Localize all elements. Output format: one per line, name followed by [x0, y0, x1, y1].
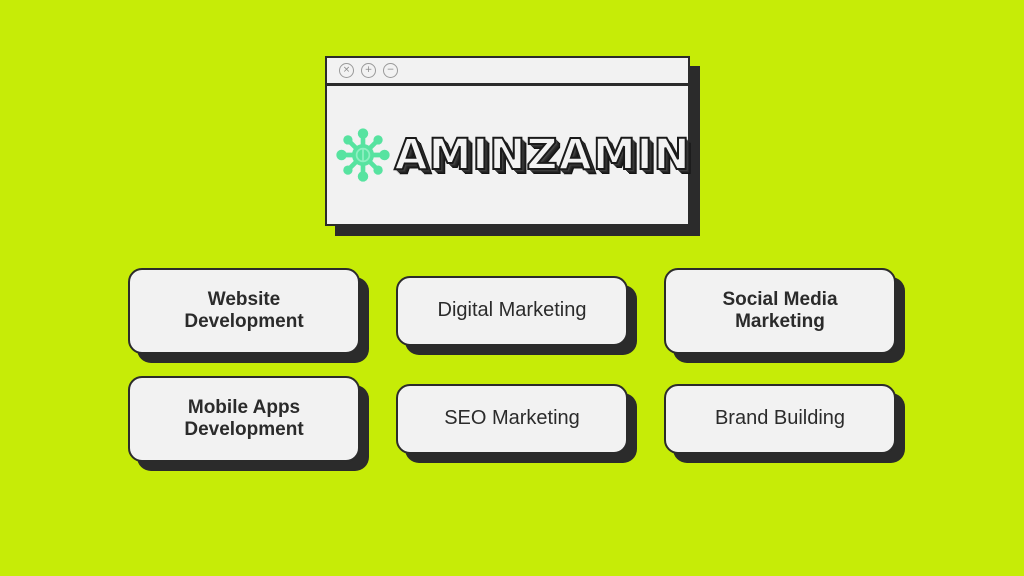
close-icon[interactable]: × [339, 63, 354, 78]
service-card-brand-building[interactable]: Brand Building [664, 376, 896, 454]
services-row-1: Website Development Digital Marketing So… [0, 268, 1024, 354]
card-surface[interactable]: Digital Marketing [396, 276, 628, 346]
service-card-social-media-marketing[interactable]: Social Media Marketing [664, 268, 896, 354]
browser-titlebar: × + − [327, 58, 688, 86]
card-surface[interactable]: SEO Marketing [396, 384, 628, 454]
services-row-2: Mobile Apps Development SEO Marketing Br… [0, 376, 1024, 462]
service-card-website-development[interactable]: Website Development [128, 268, 360, 354]
card-surface[interactable]: Website Development [128, 268, 360, 354]
card-label: Social Media Marketing [722, 289, 837, 334]
brand-logo-lockup: AMINZAMIN [334, 124, 690, 186]
card-label: SEO Marketing [444, 407, 580, 431]
card-label: Website Development [184, 289, 303, 334]
card-label: Brand Building [715, 407, 845, 431]
browser-content-area: AMINZAMIN [327, 86, 688, 224]
card-label: Digital Marketing [438, 299, 587, 323]
brand-wordmark: AMINZAMIN [394, 134, 690, 177]
card-label: Mobile Apps Development [184, 397, 303, 442]
service-card-mobile-apps-development[interactable]: Mobile Apps Development [128, 376, 360, 462]
services-grid: Website Development Digital Marketing So… [0, 268, 1024, 462]
aminzamin-molecule-icon [334, 124, 392, 186]
service-card-seo-marketing[interactable]: SEO Marketing [396, 376, 628, 454]
browser-window: × + − [325, 56, 690, 226]
card-surface[interactable]: Brand Building [664, 384, 896, 454]
card-surface[interactable]: Social Media Marketing [664, 268, 896, 354]
service-card-digital-marketing[interactable]: Digital Marketing [396, 268, 628, 346]
minimize-icon[interactable]: − [383, 63, 398, 78]
card-surface[interactable]: Mobile Apps Development [128, 376, 360, 462]
poster-canvas: × + − [0, 0, 1024, 576]
maximize-icon[interactable]: + [361, 63, 376, 78]
